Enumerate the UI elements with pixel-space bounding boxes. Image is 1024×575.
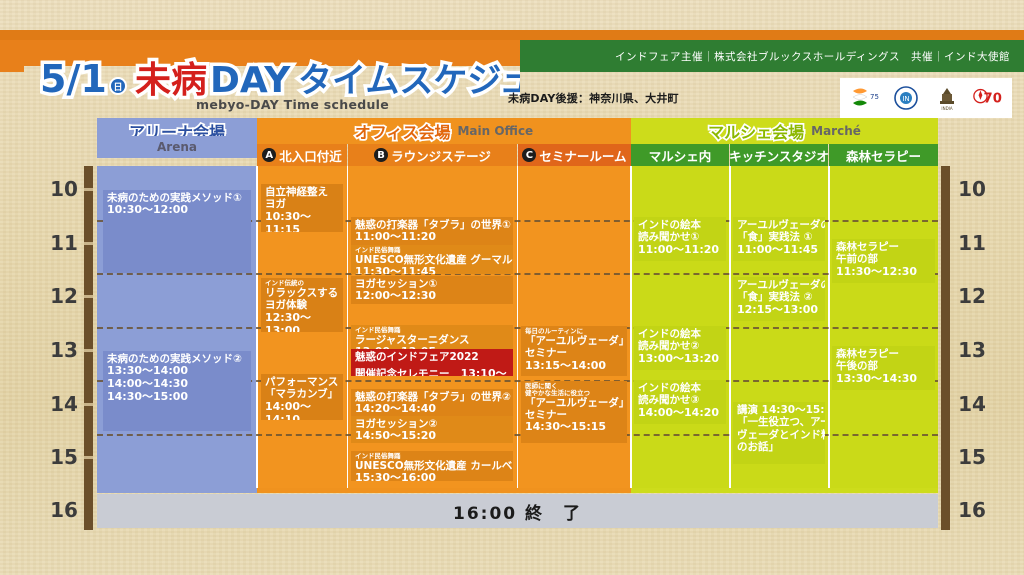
venue-header-marche: マルシェ会場 Marché [631, 118, 938, 144]
event-block[interactable]: 医師に聞く 健やかな生活に役立つ 「アーユルヴェーダ」 セミナー 14:30〜1… [521, 381, 627, 443]
event-time: 14:00〜14:20 [638, 407, 722, 420]
event-time: 12:15〜13:00 [737, 304, 821, 317]
event-subtitle: 毎日のルーティンに [525, 328, 623, 335]
room-badge-b: B [374, 148, 388, 162]
sponsor-green-bar: インドフェア主催｜株式会社ブルックスホールディングス 共催｜インド大使館 [520, 40, 1024, 72]
event-title-line3: ヴェーダとインド料理 [737, 429, 821, 441]
event-time: 12:00〜12:30 [355, 290, 509, 303]
closing-text: 16:00 終 了 [453, 499, 582, 524]
event-time: 11:00〜11:20 [638, 244, 722, 257]
event-block[interactable]: インドの絵本 読み聞かせ② 13:00〜13:20 [634, 326, 726, 370]
footer-axis-left [84, 488, 93, 530]
event-title-line2: セミナー [525, 347, 623, 359]
room-header-c: C セミナールーム [518, 144, 631, 166]
time-label-left: 14 [46, 392, 82, 416]
event-block[interactable]: インド民俗舞踊 UNESCO無形文化遺産 グーマルダンス 11:30〜11:45 [351, 245, 513, 274]
event-time: 11:00〜11:20 [355, 231, 509, 244]
event-title-line2: 読み聞かせ② [638, 340, 722, 352]
event-title-line2: 読み聞かせ③ [638, 394, 722, 406]
event-time: 14:30〜15:15 [525, 421, 623, 434]
time-label-right: 10 [954, 177, 990, 201]
hour-line [97, 327, 938, 329]
event-title-line1: 自立神経整え [265, 186, 339, 198]
event-time: 15:30〜16:00 [355, 472, 509, 481]
venue-marche-en: Marché [811, 124, 861, 138]
svg-text:IN: IN [902, 95, 909, 103]
time-label-right: 16 [954, 498, 990, 522]
event-block[interactable]: アーユルヴェーダの 「食」実践法 ① 11:00〜11:45 [733, 217, 825, 261]
event-title-line1: パフォーマンス [265, 376, 339, 388]
seal-logo-icon: IN [890, 82, 922, 114]
svg-text:5/1: 5/1 [40, 57, 107, 101]
room-label-b: ラウンジステージ [391, 146, 491, 165]
event-subtitle: インド伝統の [265, 280, 339, 287]
event-block[interactable]: 魅惑の打楽器「タブラ」の世界① 11:00〜11:20 [351, 217, 513, 245]
time-label-right: 13 [954, 338, 990, 362]
event-title-line2: 「食」実践法 ② [737, 291, 821, 303]
room-badge-a: A [262, 148, 276, 162]
svg-text:INDIA: INDIA [941, 106, 952, 111]
event-title-line2: ヨガ [265, 198, 339, 210]
event-block[interactable]: アーユルヴェーダの 「食」実践法 ② 12:15〜13:00 [733, 277, 825, 321]
event-title: 魅惑のインドフェア2022 [355, 351, 509, 363]
event-time: 14:20〜14:40 [355, 403, 509, 416]
event-time: 13:15〜14:00 [525, 360, 623, 373]
event-block[interactable]: インド民俗舞踊 ラージャスターニダンス 13:00〜13:05 [351, 325, 513, 349]
page-title: 5/1 5/1 日 未病 未病 DAY DAY タイムスケジュール タイムスケジ… [40, 50, 520, 102]
event-block[interactable]: 魅惑の打楽器「タブラ」の世界② 14:20〜14:40 [351, 389, 513, 416]
room-header-kitchen-studio: キッチンスタジオ [730, 144, 828, 166]
footer-cap-office [257, 488, 631, 493]
event-block[interactable]: 森林セラピー 午前の部 11:30〜12:30 [832, 239, 935, 283]
event-subtitle: インド民俗舞踊 [355, 327, 509, 334]
event-title-line2: 午前の部 [836, 253, 931, 265]
axis-tick [84, 349, 93, 352]
event-time: 11:30〜12:30 [836, 266, 931, 279]
event-title-line4: のお話」 [737, 441, 821, 453]
event-time: 13:00〜13:20 [638, 353, 722, 366]
event-block[interactable]: 未病のための実践メソッド① 10:30〜12:00 [103, 190, 251, 273]
axis-tick [84, 242, 93, 245]
time-label-left: 12 [46, 284, 82, 308]
event-title-line1: アーユルヴェーダの [737, 219, 821, 231]
emblem-logo-icon: INDIA [931, 82, 963, 114]
event-title-line2: ヨガ体験 [265, 299, 339, 311]
event-subtitle: インド民俗舞踊 [355, 247, 509, 254]
room-header-forest-therapy: 森林セラピー [829, 144, 938, 166]
svg-text:75: 75 [870, 93, 879, 101]
room-header-marche-inner: マルシェ内 [631, 144, 729, 166]
time-label-left: 16 [46, 498, 82, 522]
event-lecture-header: 講演 14:30〜15:30 [737, 404, 821, 416]
room-label-m3: 森林セラピー [846, 146, 921, 165]
left-orange-block [0, 40, 24, 72]
svg-text:70: 70 [983, 92, 1001, 107]
venue-office-jp: オフィス会場 [355, 119, 451, 143]
axis-tick [84, 403, 93, 406]
event-time: 12:30〜13:00 [265, 312, 339, 332]
axis-tick [84, 456, 93, 459]
event-title-line1: リラックスする [265, 287, 339, 299]
event-subtitle-2: 健やかな生活に役立つ [525, 390, 623, 397]
event-time: 14:00〜14:10 [265, 401, 339, 420]
time-label-left: 15 [46, 445, 82, 469]
svg-text:未病: 未病 [135, 60, 207, 101]
hour-line [97, 273, 938, 275]
closing-banner: 16:00 終 了 [97, 494, 938, 528]
event-block-highlight[interactable]: 魅惑のインドフェア2022 開催記念セレモニー 13:10〜13:40 [351, 349, 513, 376]
event-title-line2: 「食」実践法 ① [737, 231, 821, 243]
subtitle-en: mebyo-DAY Time schedule [196, 97, 389, 112]
event-block[interactable]: ヨガセッション② 14:50〜15:20 [351, 416, 513, 443]
event-time: 10:30〜12:00 [107, 204, 247, 217]
event-title-line2: 開催記念セレモニー [355, 368, 450, 376]
room-badge-c: C [522, 148, 536, 162]
event-subtitle: インド民俗舞踊 [355, 453, 509, 460]
time-label-left: 10 [46, 177, 82, 201]
anniversary-70-logo-icon: 70 [972, 82, 1004, 114]
event-title-line1: 「アーユルヴェーダ」 [525, 335, 623, 347]
footer-cap-marche [631, 488, 938, 493]
support-line: 未病DAY後援：神奈川県、大井町 [508, 90, 679, 106]
venue-marche-jp: マルシェ会場 [708, 119, 804, 143]
event-block[interactable]: インドの絵本 読み聞かせ③ 14:00〜14:20 [634, 380, 726, 424]
time-label-right: 15 [954, 445, 990, 469]
event-time: 11:30〜11:45 [355, 266, 509, 274]
event-title-line1: インドの絵本 [638, 219, 722, 231]
event-time: 10:30〜11:15 [265, 211, 339, 232]
svg-text:タイムスケジュール: タイムスケジュール [298, 61, 520, 101]
svg-text:日: 日 [113, 82, 122, 93]
event-time: 14:30〜15:00 [107, 391, 247, 404]
footer-cap-arena [97, 488, 257, 493]
time-label-left: 11 [46, 231, 82, 255]
time-label-right: 11 [954, 231, 990, 255]
footer-axis-right [941, 488, 950, 530]
venue-arena-en: Arena [97, 136, 257, 158]
event-time: 13:30〜14:30 [836, 373, 931, 386]
schedule-grid: 未病のための実践メソッド① 10:30〜12:00 未病のための実践メソッド② … [97, 166, 938, 488]
event-title-line1: アーユルヴェーダの [737, 279, 821, 291]
room-label-m1: マルシェ内 [649, 146, 712, 165]
venue-header-office: オフィス会場 Main Office [257, 118, 631, 144]
room-label-c: セミナールーム [539, 146, 626, 165]
event-block[interactable]: 毎日のルーティンに 「アーユルヴェーダ」 セミナー 13:15〜14:00 [521, 326, 627, 376]
time-label-left: 13 [46, 338, 82, 362]
room-header-a: A 北入口付近 [257, 144, 347, 166]
event-title-line1: インドの絵本 [638, 382, 722, 394]
time-axis-right [941, 166, 950, 506]
sponsor-line: インドフェア主催｜株式会社ブルックスホールディングス 共催｜インド大使館 [615, 49, 1024, 64]
event-title-line1: 森林セラピー [836, 348, 931, 360]
time-label-right: 12 [954, 284, 990, 308]
event-block[interactable]: パフォーマンス 「マラカンブ」 14:00〜14:10 [261, 374, 343, 420]
azadi-logo-icon: 75 [849, 82, 881, 114]
event-title-line1: インドの絵本 [638, 328, 722, 340]
event-block[interactable]: インドの絵本 読み聞かせ① 11:00〜11:20 [634, 217, 726, 261]
event-block[interactable]: 講演 14:30〜15:30 「一生役立つ、アーユル ヴェーダとインド料理 のお… [733, 402, 825, 464]
event-block[interactable]: ヨガセッション① 12:00〜12:30 [351, 276, 513, 304]
top-orange-strip [0, 30, 1024, 40]
event-title-line1: 森林セラピー [836, 241, 931, 253]
event-block[interactable]: 自立神経整え ヨガ 10:30〜11:15 [261, 184, 343, 232]
axis-tick [84, 295, 93, 298]
time-axis-left [84, 166, 93, 506]
sponsor-logo-strip: 75 IN INDIA 70 [840, 78, 1012, 118]
event-title-line2: 「一生役立つ、アーユル [737, 416, 821, 428]
room-header-b: B ラウンジステージ [348, 144, 517, 166]
time-label-right: 14 [954, 392, 990, 416]
svg-text:DAY: DAY [210, 60, 291, 101]
event-time: 11:00〜11:45 [737, 244, 821, 257]
event-title-line2: 「マラカンブ」 [265, 388, 339, 400]
event-block[interactable]: インド伝統の リラックスする ヨガ体験 12:30〜13:00 [261, 278, 343, 332]
event-title-line2: 午後の部 [836, 360, 931, 372]
event-title-line1: 「アーユルヴェーダ」 [525, 397, 623, 409]
axis-tick [84, 188, 93, 191]
event-block[interactable]: インド民俗舞踊 UNESCO無形文化遺産 カールベーリヤダンス 15:30〜16… [351, 451, 513, 481]
event-title-line2: 読み聞かせ① [638, 231, 722, 243]
event-block[interactable]: 未病のための実践メソッド② 13:30〜14:00 14:00〜14:30 14… [103, 351, 251, 431]
event-time: 14:50〜15:20 [355, 430, 509, 443]
event-block[interactable]: 森林セラピー 午後の部 13:30〜14:30 [832, 346, 935, 390]
venue-office-en: Main Office [457, 124, 533, 138]
room-label-a: 北入口付近 [279, 146, 342, 165]
room-label-m2: キッチンスタジオ [729, 146, 829, 165]
